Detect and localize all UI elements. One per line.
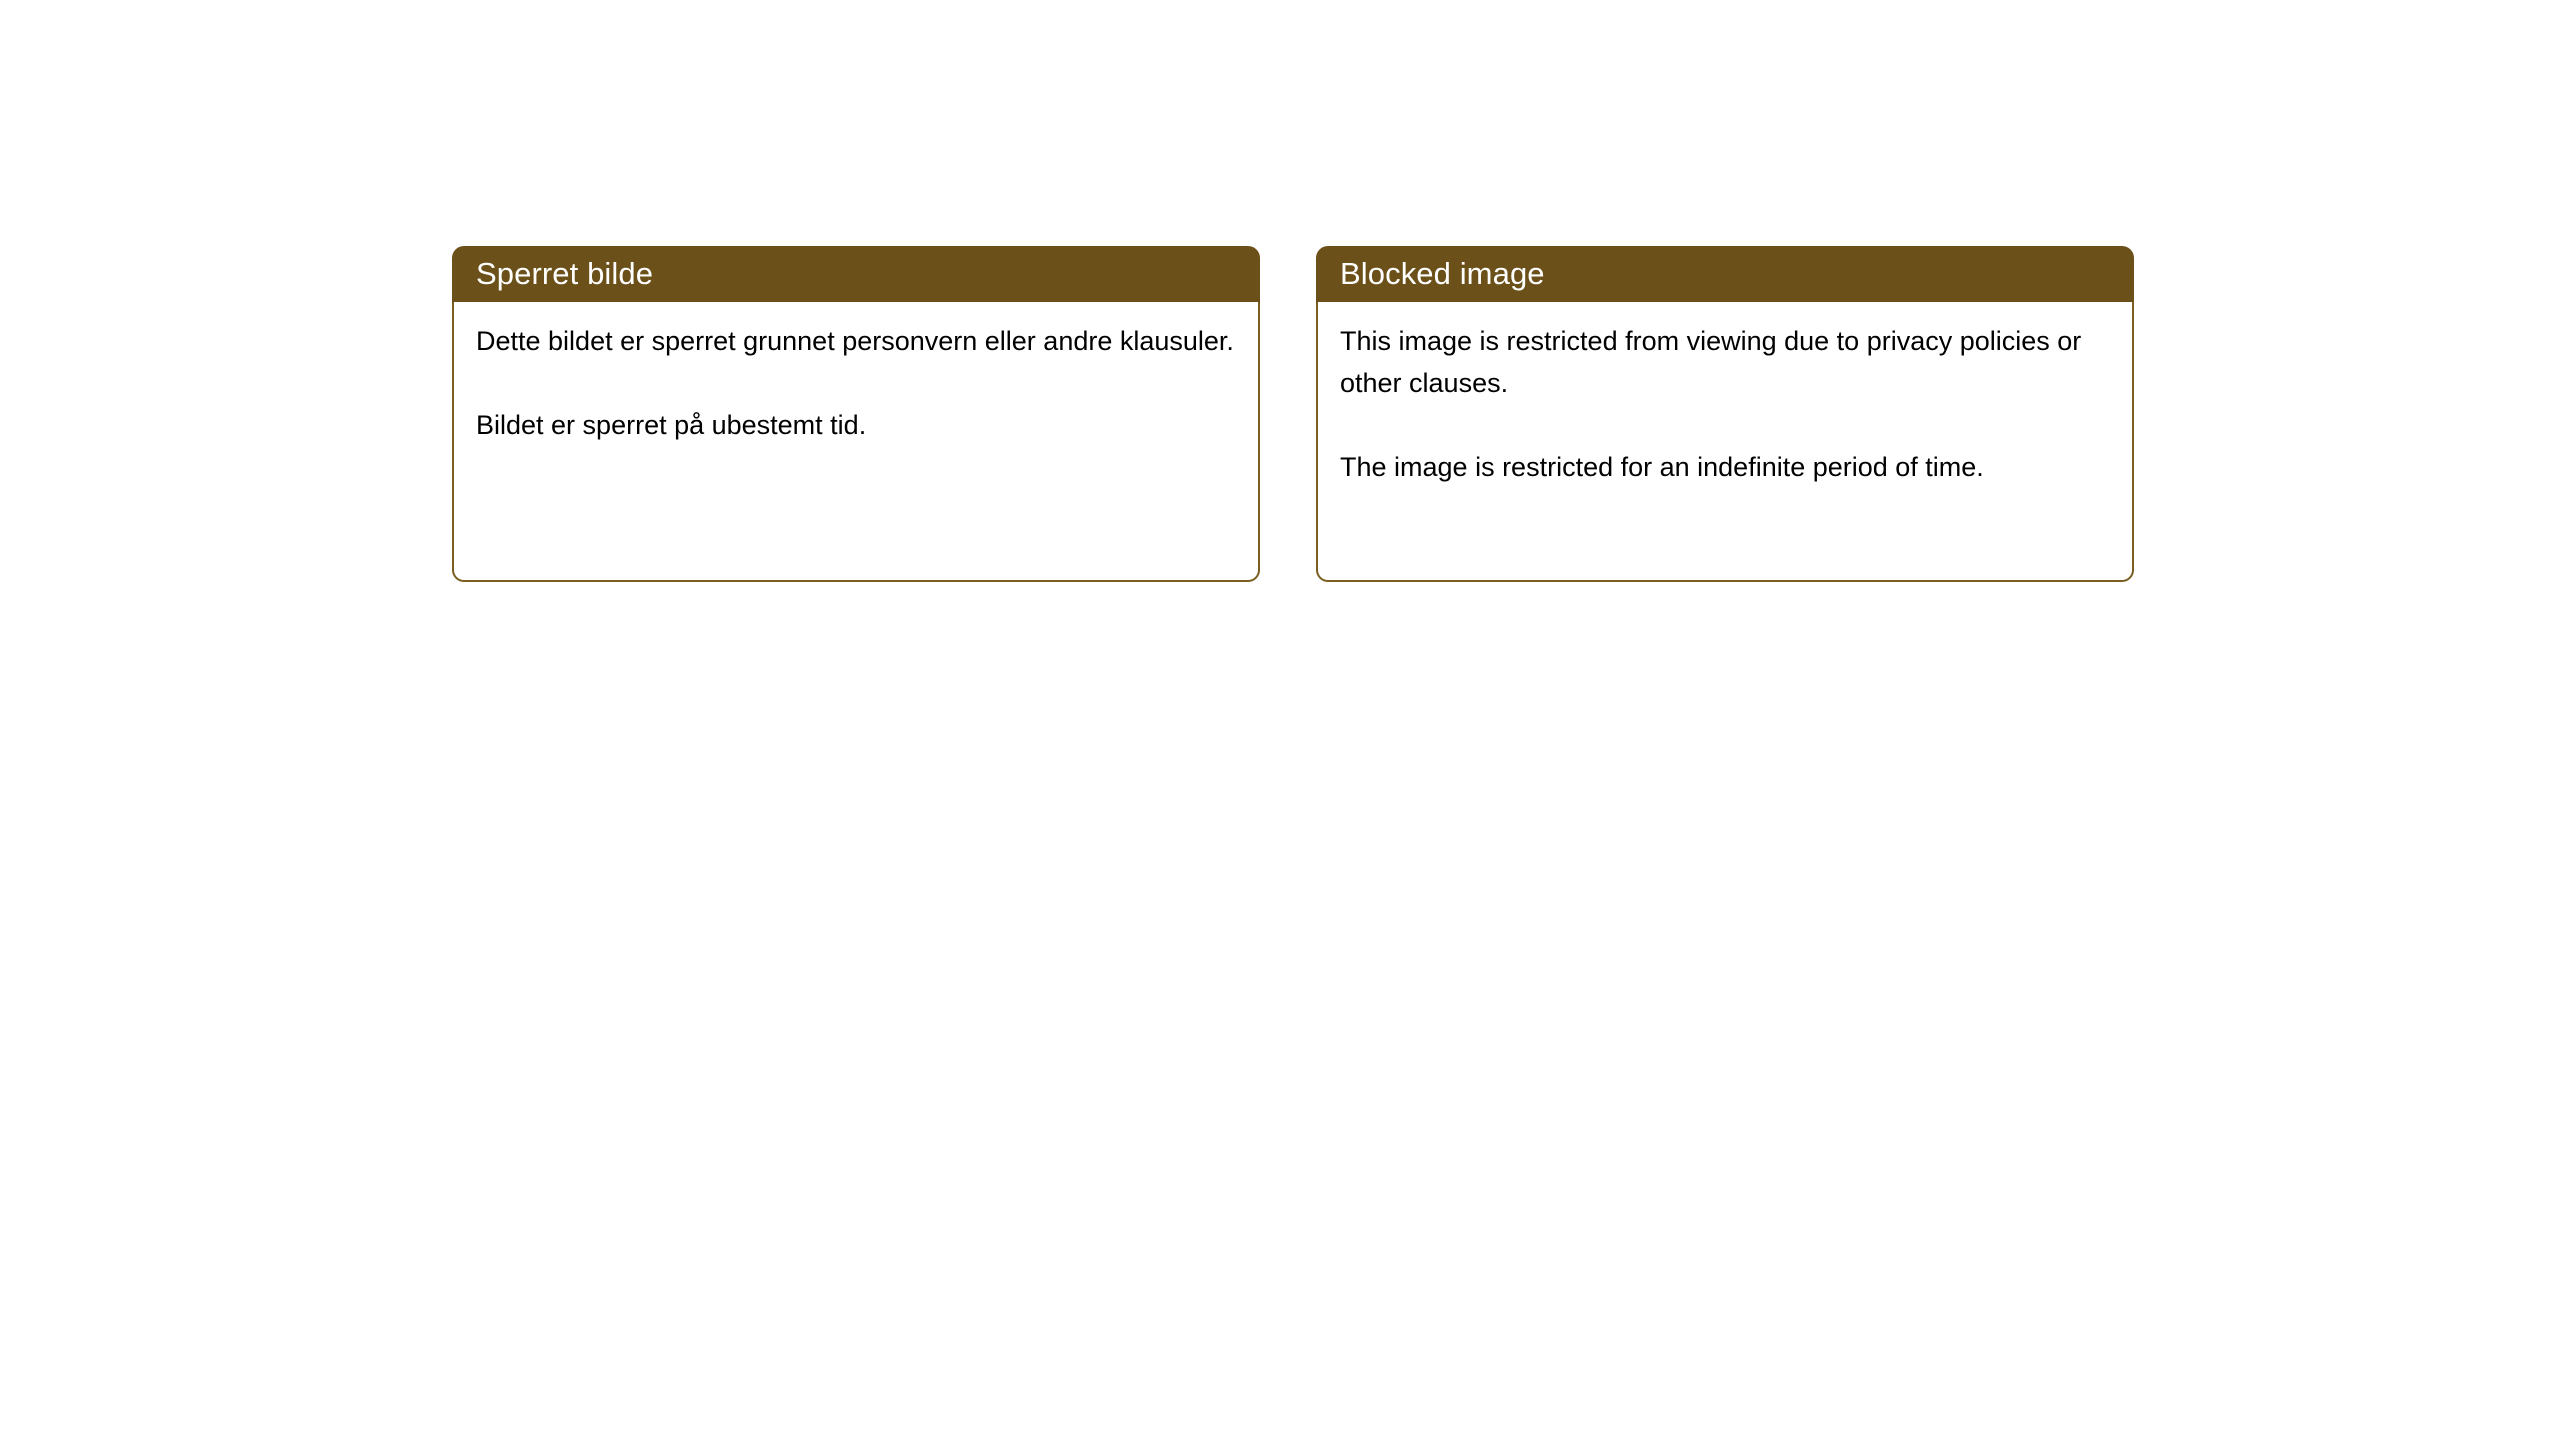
card-body-norwegian: Dette bildet er sperret grunnet personve…	[452, 302, 1260, 582]
card-paragraph-english-2: The image is restricted for an indefinit…	[1340, 446, 2112, 488]
card-title-norwegian: Sperret bilde	[476, 246, 653, 302]
card-paragraph-norwegian-2: Bildet er sperret på ubestemt tid.	[476, 404, 1238, 446]
card-body-english: This image is restricted from viewing du…	[1316, 302, 2134, 582]
blocked-image-card-norwegian: Sperret bilde Dette bildet er sperret gr…	[452, 246, 1260, 582]
card-header-norwegian: Sperret bilde	[452, 246, 1260, 302]
card-header-english: Blocked image	[1316, 246, 2134, 302]
card-paragraph-norwegian-1: Dette bildet er sperret grunnet personve…	[476, 320, 1238, 362]
card-title-english: Blocked image	[1340, 246, 1545, 302]
card-paragraph-english-1: This image is restricted from viewing du…	[1340, 320, 2112, 404]
blocked-image-card-english: Blocked image This image is restricted f…	[1316, 246, 2134, 582]
page-root: Sperret bilde Dette bildet er sperret gr…	[0, 0, 2560, 1440]
